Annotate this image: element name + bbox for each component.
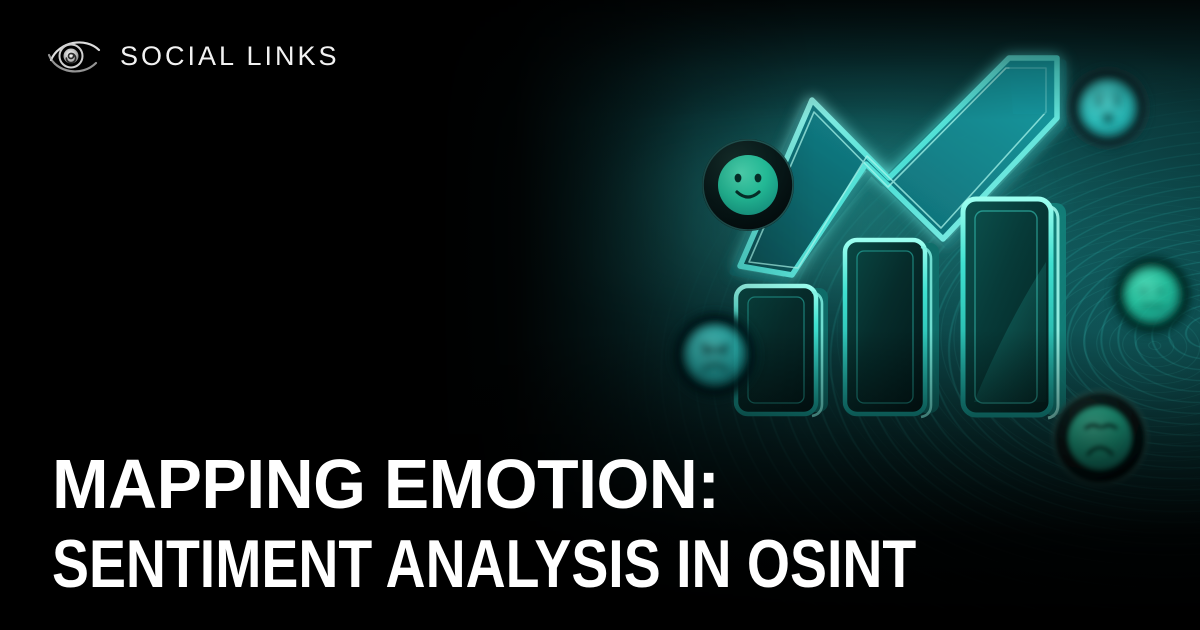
banner: SOCIAL LINKS MAPPING EMOTION: SENTIMENT … bbox=[0, 0, 1200, 630]
emoji-angry bbox=[671, 311, 759, 399]
eye-spiral-icon bbox=[46, 33, 104, 79]
brand-name: SOCIAL LINKS bbox=[120, 41, 340, 72]
emoji-worried bbox=[1068, 68, 1148, 148]
brand-logo[interactable]: SOCIAL LINKS bbox=[46, 33, 340, 79]
headline-line-2: SENTIMENT ANALYSIS IN OSINT bbox=[52, 530, 916, 598]
bar-medium bbox=[845, 240, 939, 417]
headline: MAPPING EMOTION: SENTIMENT ANALYSIS IN O… bbox=[52, 449, 1112, 598]
emoji-neutral bbox=[1112, 255, 1192, 335]
headline-line-1: MAPPING EMOTION: bbox=[52, 449, 1081, 519]
bar-high bbox=[963, 199, 1066, 418]
emoji-happy bbox=[702, 139, 794, 231]
